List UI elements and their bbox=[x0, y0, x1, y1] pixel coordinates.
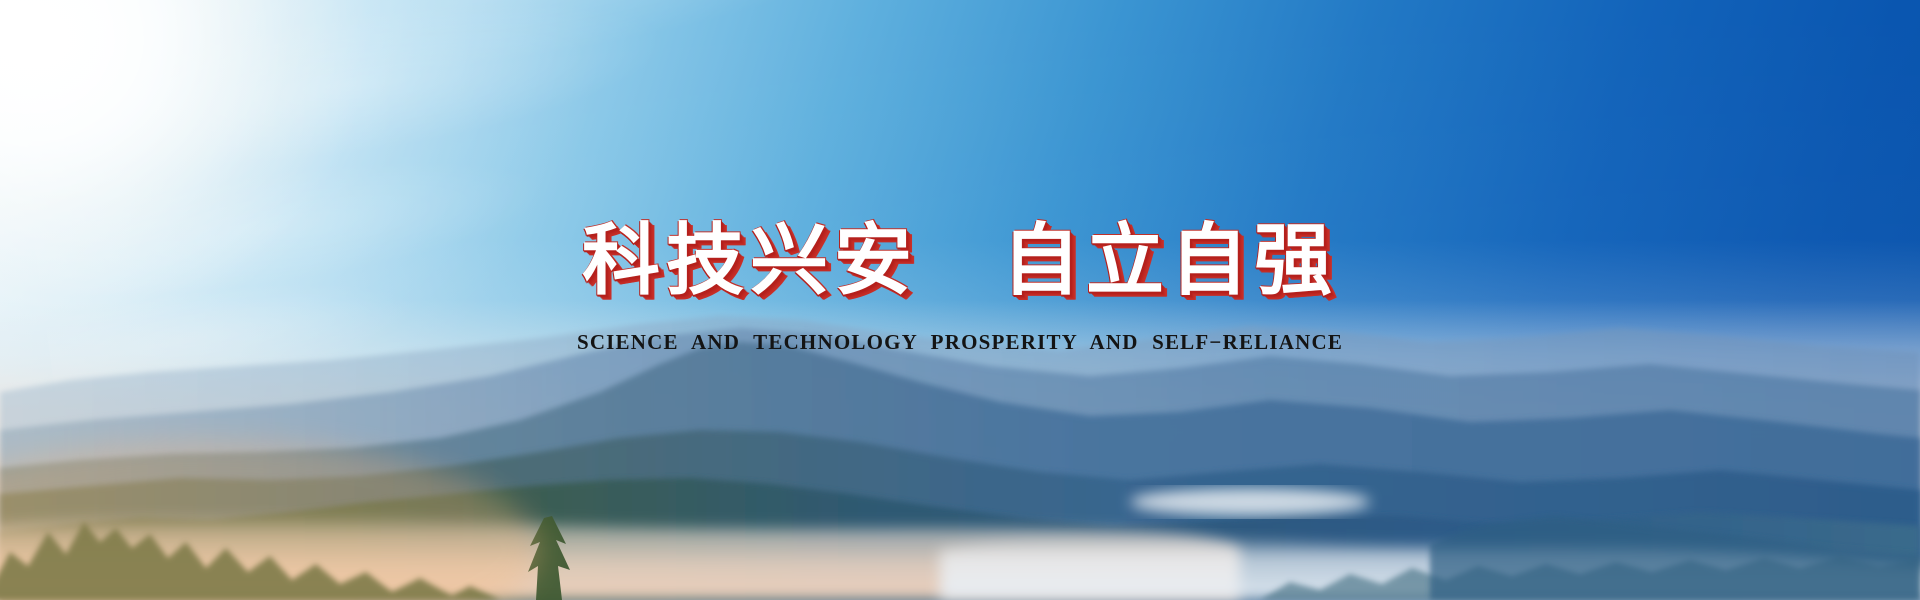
banner-hero: 科技兴安 自立自强 SCIENCE AND TECHNOLOGY PROSPER… bbox=[0, 0, 1920, 600]
mountain-ridges bbox=[0, 280, 1920, 600]
fog-cloud bbox=[1130, 488, 1370, 516]
